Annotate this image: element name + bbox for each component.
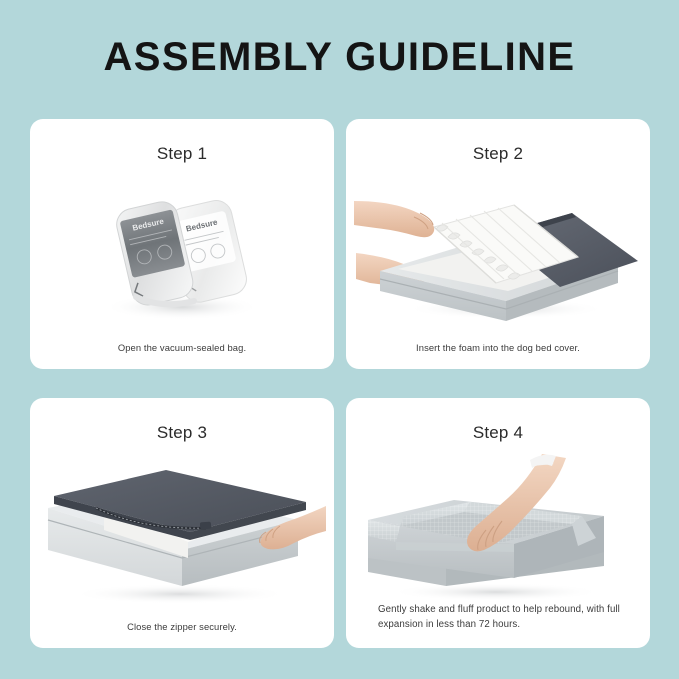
step-card-4: Step 4: [346, 398, 650, 648]
step-1-caption: Open the vacuum-sealed bag.: [52, 341, 312, 355]
insert-foam-into-cover-photo: [346, 167, 650, 327]
assembly-guideline-page: ASSEMBLY GUIDELINE Step 1: [0, 0, 679, 679]
step-3-caption: Close the zipper securely.: [52, 620, 312, 634]
steps-grid: Step 1: [30, 119, 650, 648]
step-1-heading: Step 1: [30, 144, 334, 164]
step-2-heading: Step 2: [346, 144, 650, 164]
page-title: ASSEMBLY GUIDELINE: [0, 37, 679, 77]
step-4-caption: Gently shake and fluff product to help r…: [378, 602, 624, 632]
shake-and-fluff-photo: [346, 446, 650, 606]
step-card-3: Step 3: [30, 398, 334, 648]
step-card-1: Step 1: [30, 119, 334, 369]
step-2-caption: Insert the foam into the dog bed cover.: [368, 341, 628, 355]
close-zipper-photo: [30, 446, 334, 606]
vacuum-sealed-bag-photo: Bedsure Bedsure: [30, 167, 334, 327]
step-3-heading: Step 3: [30, 423, 334, 443]
step-4-heading: Step 4: [346, 423, 650, 443]
step-card-2: Step 2: [346, 119, 650, 369]
